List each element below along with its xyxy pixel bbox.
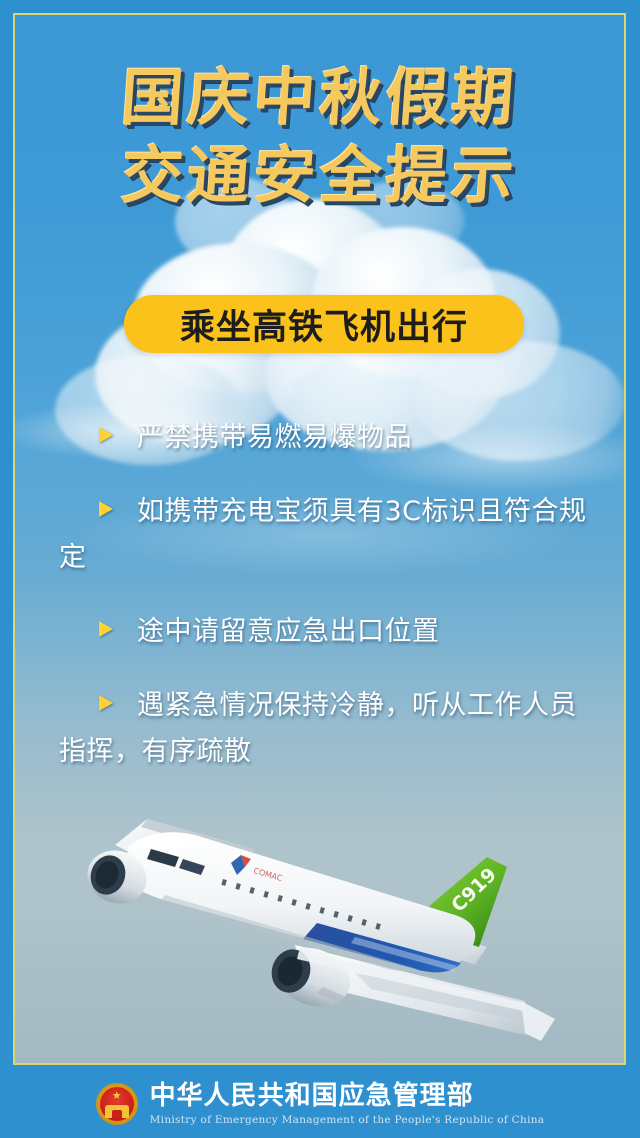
footer-text: 中华人民共和国应急管理部 Ministry of Emergency Manag… [150,1081,545,1127]
list-item-text: 严禁携带易燃易爆物品 [59,415,594,461]
triangle-right-icon [99,427,113,443]
tips-list: 严禁携带易燃易爆物品 如携带充电宝须具有3C标识且符合规定 途中请留意应急出口位… [59,415,594,803]
organization-name-en: Ministry of Emergency Management of the … [150,1113,545,1127]
list-item: 严禁携带易燃易爆物品 [59,415,594,461]
footer: ★ 中华人民共和国应急管理部 Ministry of Emergency Man… [0,1069,640,1138]
section-banner-label: 乘坐高铁飞机出行 [180,299,468,350]
list-item-text: 遇紧急情况保持冷静，听从工作人员指挥，有序疏散 [59,683,594,775]
list-item-text: 如携带充电宝须具有3C标识且符合规定 [59,489,594,581]
airplane-photo: C919 [55,805,625,1065]
organization-name-cn: 中华人民共和国应急管理部 [150,1081,545,1111]
triangle-right-icon [99,501,113,517]
list-item: 途中请留意应急出口位置 [59,609,594,655]
triangle-right-icon [99,695,113,711]
list-item: 遇紧急情况保持冷静，听从工作人员指挥，有序疏散 [59,683,594,775]
list-item-text: 途中请留意应急出口位置 [59,609,594,655]
national-emblem-icon: ★ [96,1083,138,1125]
list-item: 如携带充电宝须具有3C标识且符合规定 [59,489,594,581]
poster-frame: C919 [13,13,626,1065]
poster-root: C919 [0,0,640,1138]
triangle-right-icon [99,621,113,637]
section-banner: 乘坐高铁飞机出行 [124,295,524,353]
